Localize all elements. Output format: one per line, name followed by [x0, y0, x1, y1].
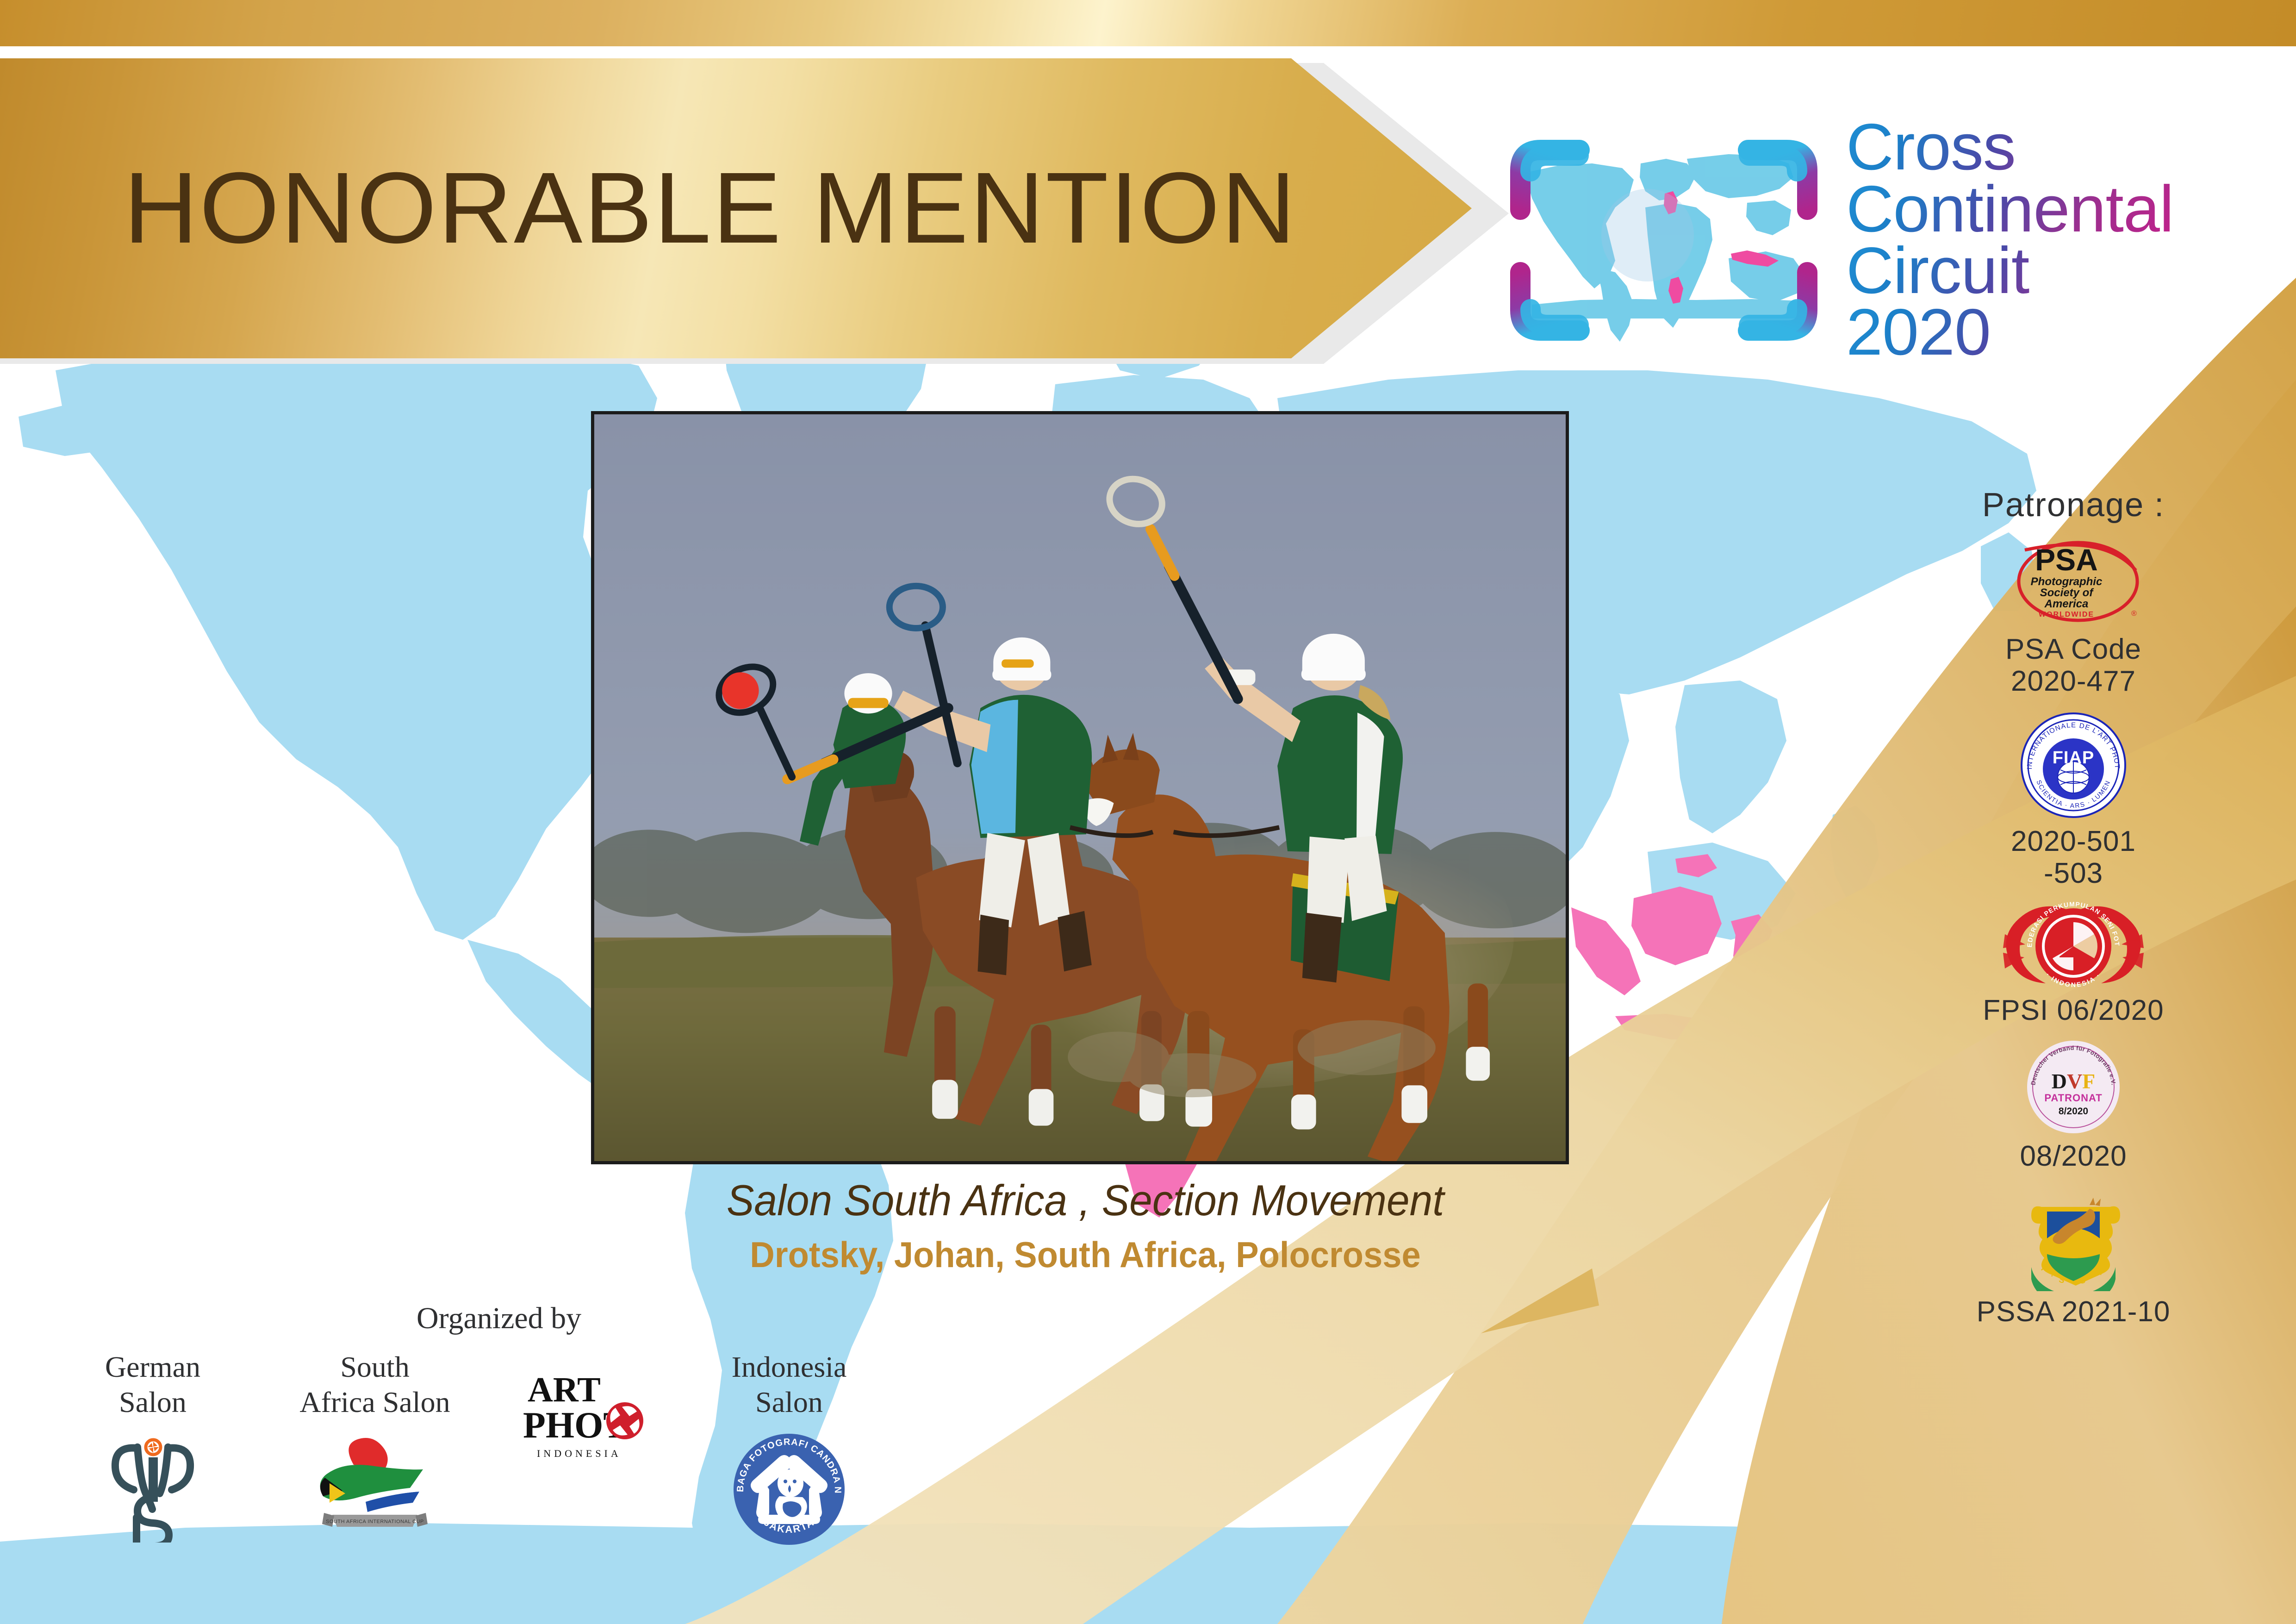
svg-text:INDONESIA: INDONESIA: [537, 1448, 622, 1459]
cross-continental-circuit-logo: Cross Continental Circuit 2020: [1488, 110, 2275, 369]
fiap-code: 2020-501 -503: [1898, 825, 2249, 890]
german-salon-trophy-logo: [83, 1431, 222, 1543]
svg-text:WORLDWIDE: WORLDWIDE: [2039, 611, 2094, 618]
pssa-logo: P · S · S · A: [1898, 1185, 2249, 1291]
patronage-column: Patronage : PSA Photographic Society of …: [1898, 486, 2249, 1328]
dvf-code: 08/2020: [1898, 1140, 2249, 1172]
svg-text:PATRONAT: PATRONAT: [2044, 1092, 2102, 1104]
svg-text:ART: ART: [528, 1370, 601, 1409]
world-map-bracket-icon: [1488, 119, 1840, 360]
svg-text:PSA: PSA: [2035, 543, 2098, 577]
logo-line-4: 2020: [1846, 301, 2173, 363]
organizer-label-south-africa: South Africa Salon: [278, 1349, 472, 1419]
pssa-code: PSSA 2021-10: [1898, 1296, 2249, 1328]
logo-wordmark: Cross Continental Circuit 2020: [1846, 116, 2173, 363]
fpsi-logo: FEDERASI PERKUMPULAN SENI FOTO · INDONES…: [1898, 902, 2249, 990]
south-africa-salon-flag-logo: SOUTH AFRICA INTERNATIONAL CUP: [278, 1431, 472, 1538]
banner-gold-chevron: HONORABLE MENTION: [0, 58, 1472, 358]
awarded-photograph: [591, 411, 1569, 1164]
patronage-heading: Patronage :: [1898, 486, 2249, 524]
fpsi-code: FPSI 06/2020: [1898, 994, 2249, 1026]
svg-text:America: America: [2044, 598, 2089, 610]
caption-author: Drotsky, Johan, South Africa, Polocrosse: [573, 1234, 1598, 1276]
art-photo-indonesia-logo: ART PHOT INDONESIA: [491, 1362, 685, 1468]
photo-caption: Salon South Africa , Section Movement Dr…: [546, 1176, 1624, 1276]
patronage-item-fiap: FEDERATION INTERNATIONALE DE L'ART PHOTO…: [1898, 710, 2249, 890]
organizer-art-photo-indonesia: ART PHOT INDONESIA: [491, 1349, 685, 1468]
psa-code: PSA Code 2020-477: [1898, 633, 2249, 698]
patronage-item-psa: PSA Photographic Society of America WORL…: [1898, 536, 2249, 698]
dvf-logo: Deutscher Verband für Fotografie e.V. DV…: [1898, 1038, 2249, 1136]
organized-by-heading: Organized by: [417, 1301, 581, 1336]
organizer-label-german: German Salon: [83, 1349, 222, 1419]
organizer-indonesia-salon: Indonesia Salon LEMBAGA FOTOGRAFI CANDRA…: [690, 1349, 889, 1547]
svg-text:®: ®: [2131, 610, 2137, 618]
svg-text:8/2020: 8/2020: [2059, 1106, 2088, 1117]
psa-logo: PSA Photographic Society of America WORL…: [1898, 536, 2249, 629]
organizers-section: Organized by German Salon: [83, 1278, 977, 1620]
organizer-label-indonesia: Indonesia Salon: [690, 1349, 889, 1419]
svg-text:Society of: Society of: [2040, 587, 2094, 599]
svg-text:Photographic: Photographic: [2031, 575, 2103, 588]
svg-text:FIAP: FIAP: [2053, 748, 2095, 768]
logo-line-3: Circuit: [1846, 240, 2173, 301]
logo-line-2: Continental: [1846, 178, 2173, 240]
award-banner: HONORABLE MENTION: [0, 58, 1509, 359]
svg-text:DVF: DVF: [2052, 1069, 2096, 1093]
organizer-german-salon: German Salon: [83, 1349, 222, 1543]
organizer-south-africa-salon: South Africa Salon SOUTH AFRICA INTERNAT…: [278, 1349, 472, 1538]
patronage-item-fpsi: FEDERASI PERKUMPULAN SENI FOTO · INDONES…: [1898, 902, 2249, 1026]
caption-salon-section: Salon South Africa , Section Movement: [573, 1176, 1598, 1224]
patronage-item-dvf: Deutscher Verband für Fotografie e.V. DV…: [1898, 1038, 2249, 1172]
top-gold-strip: [0, 0, 2296, 46]
logo-line-1: Cross: [1846, 116, 2173, 178]
patronage-item-pssa: P · S · S · A PSSA 2021-10: [1898, 1185, 2249, 1328]
svg-text:SOUTH AFRICA INTERNATIONAL CUP: SOUTH AFRICA INTERNATIONAL CUP: [326, 1519, 424, 1524]
lembaga-fotografi-candra-naya-logo: LEMBAGA FOTOGRAFI CANDRA NAYA · JAKARTA …: [690, 1431, 889, 1547]
award-title: HONORABLE MENTION: [124, 158, 1297, 259]
fiap-logo: FEDERATION INTERNATIONALE DE L'ART PHOTO…: [1898, 710, 2249, 821]
